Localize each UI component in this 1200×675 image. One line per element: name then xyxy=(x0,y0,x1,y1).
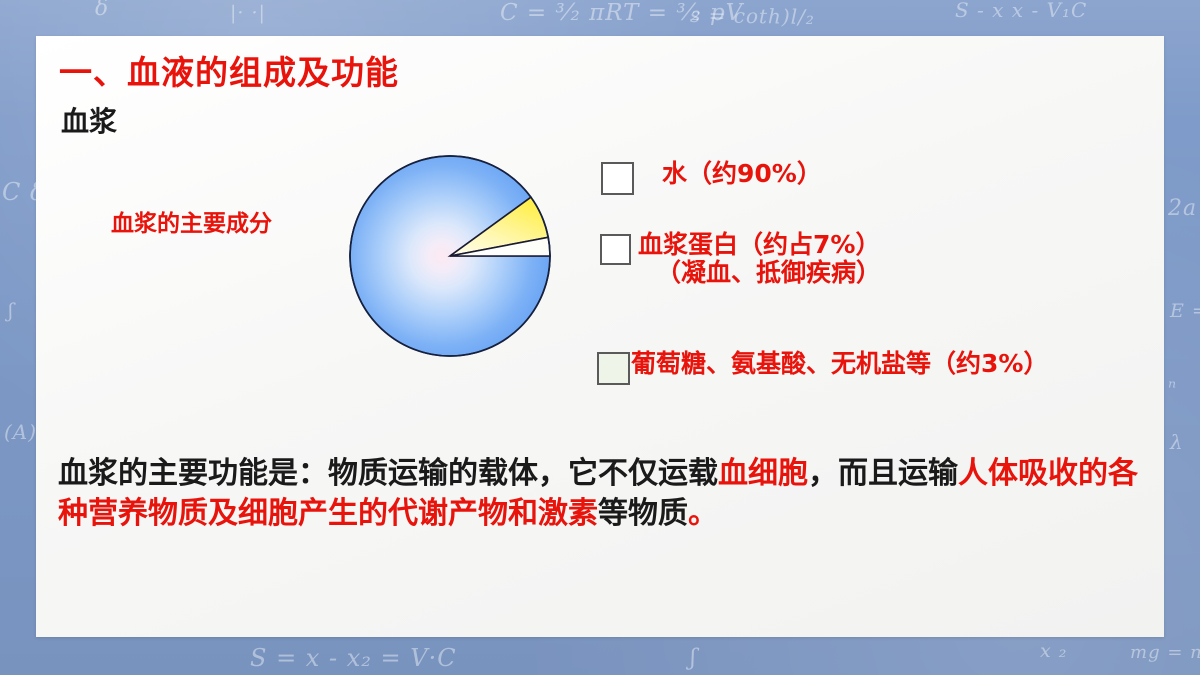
chalk-mark: ⁿ xyxy=(1168,375,1177,399)
summary-segment: 等物质 xyxy=(598,496,688,531)
legend-swatch-icon xyxy=(600,234,631,265)
pie-chart-svg xyxy=(348,154,554,360)
chalk-mark: (A) xyxy=(4,420,37,444)
summary-paragraph: 血浆的主要功能是：物质运输的载体，它不仅运载血细胞，而且运输人体吸收的各种营养物… xyxy=(58,454,1148,533)
legend-item-plasma-protein[interactable]: 血浆蛋白（约占7%） （凝血、抵御疾病） xyxy=(600,231,881,287)
legend-label: 血浆蛋白（约占7%） （凝血、抵御疾病） xyxy=(638,231,881,287)
chalk-mark: |· ·| xyxy=(230,2,266,24)
legend-label-line2: （凝血、抵御疾病） xyxy=(638,259,881,287)
chalk-mark: s = coth)l/₂ xyxy=(690,3,815,29)
legend-label-line1: 血浆蛋白（约占7%） xyxy=(638,230,880,259)
page-title: 一、血液的组成及功能 xyxy=(59,46,399,94)
chalk-mark: x ₂ xyxy=(1040,640,1067,662)
summary-segment-period: 。 xyxy=(688,496,718,531)
chalk-mark: δ xyxy=(95,0,110,21)
chalk-mark: λ xyxy=(1170,430,1184,454)
chalk-mark: S - x x - V₁C xyxy=(955,0,1087,22)
summary-highlight-blood-cells: 血细胞 xyxy=(718,456,808,491)
chalk-mark: 2a xyxy=(1168,196,1197,221)
content-card: 一、血液的组成及功能 血浆 血浆的主要成分 xyxy=(36,36,1164,637)
slide-root: δ |· ·| C = ³⁄₂ πRT = ³⁄₂ pV s = coth)l/… xyxy=(0,0,1200,675)
legend-label: 水（约90%） xyxy=(662,160,822,188)
pie-chart xyxy=(348,154,554,360)
chalk-mark: mg = n xyxy=(1130,642,1200,663)
legend-label: 葡萄糖、氨基酸、无机盐等（约3%） xyxy=(631,350,1048,378)
legend-item-water[interactable]: 水（约90%） xyxy=(601,160,822,195)
summary-segment: ，而且运输 xyxy=(808,456,958,491)
chalk-mark: ʃ xyxy=(690,646,697,671)
chalk-mark: S = x - x₂ = V·C xyxy=(250,644,457,672)
legend-item-glucose-salts[interactable]: 葡萄糖、氨基酸、无机盐等（约3%） xyxy=(597,350,1048,385)
legend-swatch-icon xyxy=(601,162,634,195)
pie-chart-caption: 血浆的主要成分 xyxy=(111,204,272,238)
chalk-mark: E = mc² xyxy=(1170,300,1200,322)
section-label: 血浆 xyxy=(61,100,117,140)
legend-swatch-icon xyxy=(597,352,630,385)
chalk-mark: ʃ xyxy=(7,300,14,322)
summary-segment: 血浆的主要功能是：物质运输的载体，它不仅运载 xyxy=(58,456,718,491)
